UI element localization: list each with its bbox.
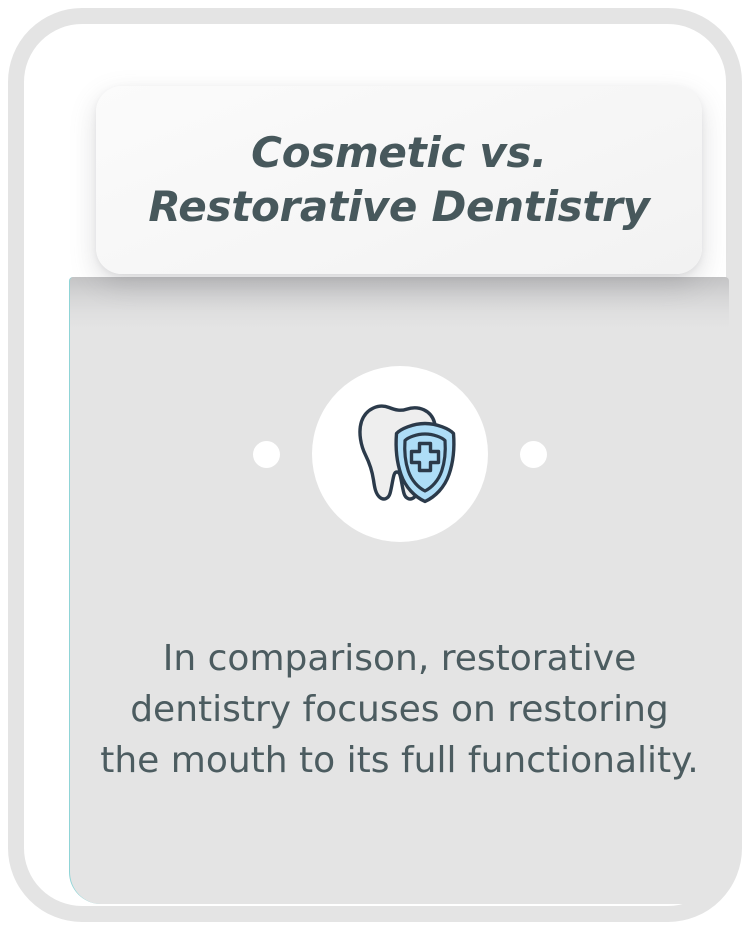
icon-area: [70, 329, 729, 579]
card-outer-frame: In comparison, restorative dentistry foc…: [8, 8, 742, 922]
tooth-shield-icon: [341, 398, 459, 510]
content-panel: In comparison, restorative dentistry foc…: [69, 277, 729, 904]
card-body-text: In comparison, restorative dentistry foc…: [100, 633, 699, 786]
icon-circle: [312, 366, 488, 542]
side-dot-right-icon: [520, 441, 547, 468]
card-title: Cosmetic vs. Restorative Dentistry: [122, 126, 676, 234]
side-dot-left-icon: [253, 441, 280, 468]
panel-top-shadow: [70, 277, 729, 329]
title-card: Cosmetic vs. Restorative Dentistry: [96, 86, 702, 274]
